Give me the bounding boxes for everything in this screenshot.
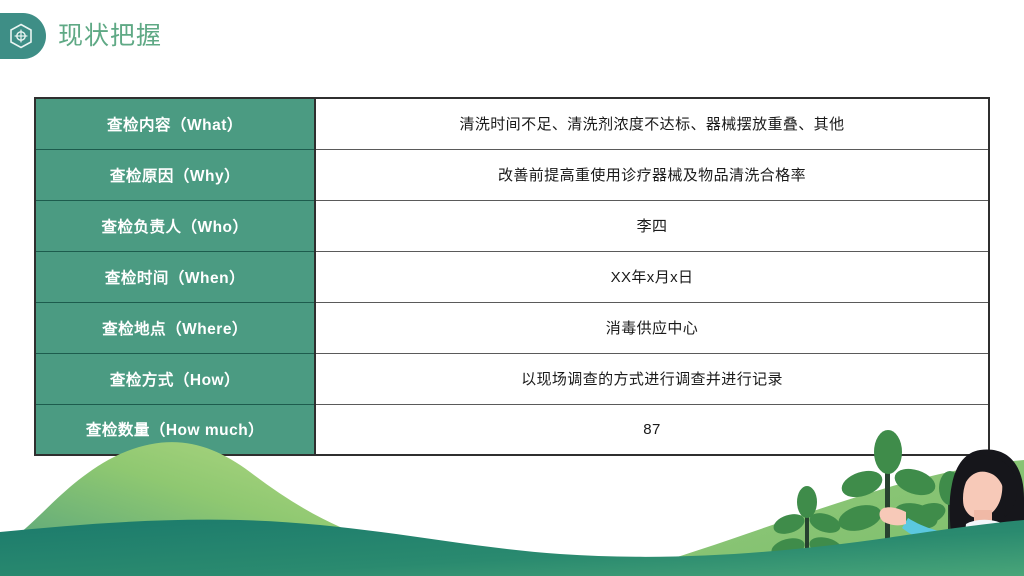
header-badge: [0, 13, 46, 59]
stethoscope-bell: [983, 557, 991, 565]
stethoscope: [976, 526, 986, 558]
face: [962, 462, 1002, 518]
row-value-what: 清洗时间不足、清洗剂浓度不达标、器械摆放重叠、其他: [315, 98, 989, 149]
row-value-why: 改善前提高重使用诊疗器械及物品清洗合格率: [315, 149, 989, 200]
row-value-how-much: 87: [315, 404, 989, 455]
row-value-where: 消毒供应中心: [315, 302, 989, 353]
row-label-how-much: 查检数量（How much）: [35, 404, 315, 455]
table-body: 查检内容（What） 清洗时间不足、清洗剂浓度不达标、器械摆放重叠、其他 查检原…: [35, 98, 989, 455]
table-row: 查检地点（Where） 消毒供应中心: [35, 302, 989, 353]
hand: [880, 507, 907, 525]
table-row: 查检方式（How） 以现场调查的方式进行调查并进行记录: [35, 353, 989, 404]
check-sheet-table: 查检内容（What） 清洗时间不足、清洗剂浓度不达标、器械摆放重叠、其他 查检原…: [34, 97, 990, 456]
hill-dark-foreground: [0, 520, 1024, 576]
row-label-how: 查检方式（How）: [35, 353, 315, 404]
hair-front: [958, 456, 1017, 518]
woman-figure: [880, 450, 1024, 576]
page-title: 现状把握: [58, 24, 162, 49]
sapling-short-left: [769, 486, 845, 576]
table-row: 查检内容（What） 清洗时间不足、清洗剂浓度不达标、器械摆放重叠、其他: [35, 98, 989, 149]
row-value-who: 李四: [315, 200, 989, 251]
sapling-right: [908, 471, 992, 570]
slide-header: 现状把握: [0, 10, 162, 62]
lab-coat: [942, 526, 1024, 576]
hill-light-right: [610, 460, 1024, 576]
row-label-who: 查检负责人（Who）: [35, 200, 315, 251]
hexagon-crosshair-icon: [9, 23, 33, 49]
table-row: 查检原因（Why） 改善前提高重使用诊疗器械及物品清洗合格率: [35, 149, 989, 200]
lab-coat-lapel: [992, 526, 1010, 576]
arm: [902, 518, 964, 548]
inner-shirt: [960, 520, 1012, 576]
hill-light-left: [0, 442, 410, 576]
row-label-where: 查检地点（Where）: [35, 302, 315, 353]
table-row: 查检时间（When） XX年x月x日: [35, 251, 989, 302]
table-row: 查检数量（How much） 87: [35, 404, 989, 455]
neck: [974, 510, 992, 528]
row-label-why: 查检原因（Why）: [35, 149, 315, 200]
hair-back: [950, 450, 1024, 576]
row-label-what: 查检内容（What）: [35, 98, 315, 149]
row-label-when: 查检时间（When）: [35, 251, 315, 302]
table-row: 查检负责人（Who） 李四: [35, 200, 989, 251]
row-value-when: XX年x月x日: [315, 251, 989, 302]
row-value-how: 以现场调查的方式进行调查并进行记录: [315, 353, 989, 404]
